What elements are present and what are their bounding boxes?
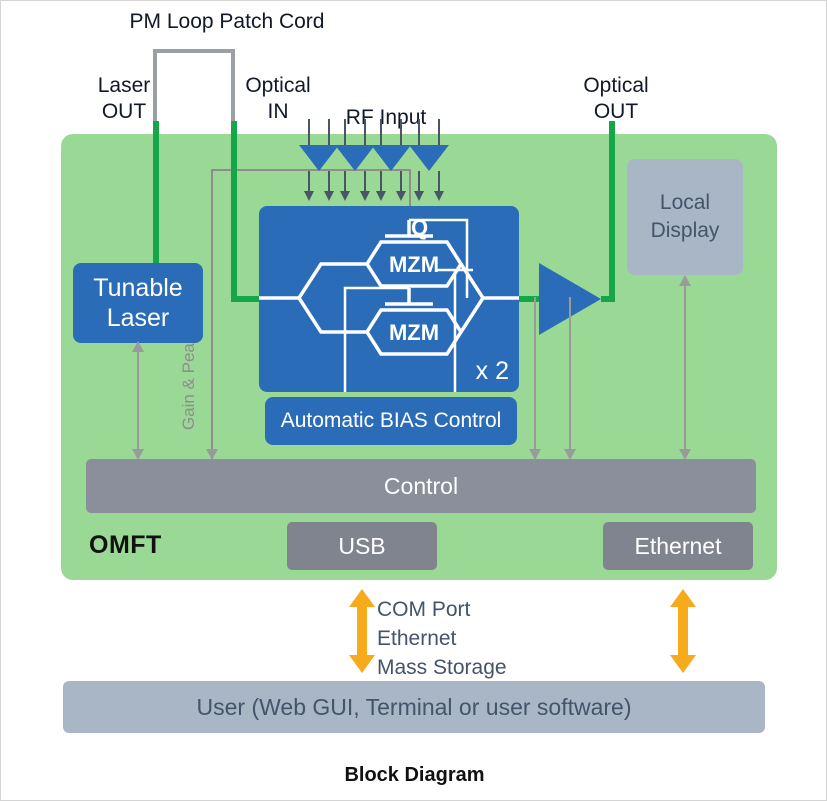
- user-block: User (Web GUI, Terminal or user software…: [63, 681, 765, 733]
- multiplicity-label: x 2: [476, 357, 509, 386]
- ethernet-link-arrowhead-down-icon: [670, 655, 696, 673]
- optical-in-label: Optical IN: [223, 73, 333, 125]
- iq-modulator-block: MZM MZM Q x 2: [259, 206, 519, 392]
- laser-out-label: Laser OUT: [71, 73, 177, 125]
- omft-device-label: OMFT: [89, 531, 162, 560]
- figure-caption: Block Diagram: [1, 764, 827, 787]
- optical-out-label: Optical OUT: [549, 73, 683, 125]
- rf-arrowhead-a-icon: [414, 191, 424, 201]
- rf-amplifier-triangle-icon: [371, 145, 411, 171]
- ctrl-line-laser: [137, 349, 139, 453]
- rf-arrowhead-b-icon: [360, 191, 370, 201]
- ctrl-arrowhead-up-display-icon: [679, 275, 691, 286]
- ctrl-line-display: [684, 283, 686, 453]
- rf-arrowhead-b-icon: [434, 191, 444, 201]
- rf-arrowhead-b-icon: [324, 191, 334, 201]
- pm-loop-patch-cord-label: PM Loop Patch Cord: [97, 9, 357, 35]
- usb-link-arrowhead-down-icon: [349, 655, 375, 673]
- ctrl-line-amplifier: [569, 297, 571, 453]
- automatic-bias-control-block: Automatic BIAS Control: [265, 397, 517, 445]
- fibre-optical-out-vertical: [609, 121, 615, 302]
- host-interfaces-label: COM Port Ethernet Mass Storage: [377, 595, 507, 682]
- usb-port-block: USB: [287, 522, 437, 570]
- local-display-block: Local Display: [627, 159, 743, 275]
- quadrature-label: Q: [411, 215, 428, 241]
- tunable-laser-block: Tunable Laser: [73, 263, 203, 343]
- rf-input-amplifier-4: [409, 119, 453, 207]
- rf-amplifier-triangle-icon: [335, 145, 375, 171]
- rf-arrowhead-a-icon: [376, 191, 386, 201]
- mzm-upper-text: MZM: [389, 252, 439, 277]
- gain-peaking-route-vertical: [211, 169, 213, 469]
- fibre-laser-out: [153, 121, 159, 269]
- ethernet-link-shaft: [678, 603, 688, 661]
- fibre-optical-in-vertical: [231, 121, 237, 302]
- rf-arrowhead-a-icon: [304, 191, 314, 201]
- rf-arrowhead-a-icon: [340, 191, 350, 201]
- mzm-lower-text: MZM: [389, 320, 439, 345]
- rf-amplifier-triangle-icon: [299, 145, 339, 171]
- rf-arrowhead-b-icon: [396, 191, 406, 201]
- rf-amplifier-triangle-icon: [409, 145, 449, 171]
- usb-link-shaft: [357, 603, 367, 661]
- ethernet-port-block: Ethernet: [603, 522, 753, 570]
- ctrl-arrowhead-up-laser-icon: [132, 341, 144, 352]
- block-diagram-canvas: PM Loop Patch Cord Laser OUT Optical IN …: [0, 0, 827, 801]
- control-block: Control: [86, 459, 756, 513]
- ctrl-line-modulator: [534, 297, 536, 453]
